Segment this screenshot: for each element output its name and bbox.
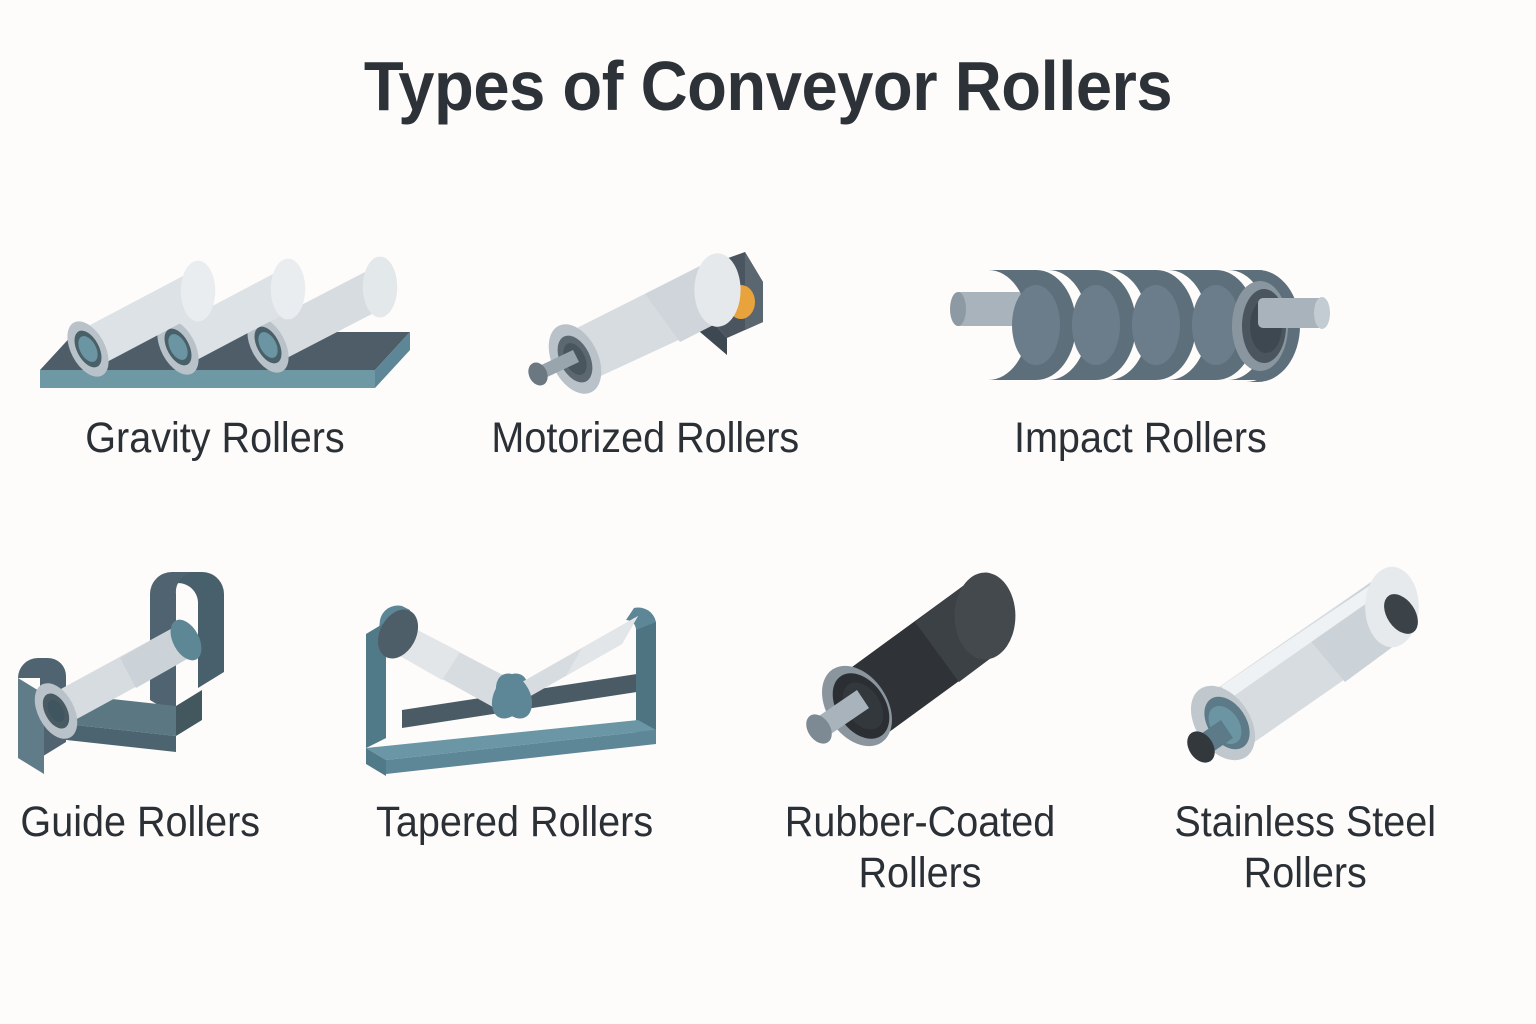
guide-roller-icon <box>0 560 290 775</box>
roller-label-tapered-rollers: Tapered Rollers <box>376 797 653 848</box>
roller-card-stainless-steel-rollers: Stainless Steel Rollers <box>1090 560 1520 898</box>
roller-label-guide-rollers: Guide Rollers <box>20 797 260 848</box>
roller-label-gravity-rollers: Gravity Rollers <box>85 413 344 464</box>
rubber-coated-roller-icon <box>795 560 1045 775</box>
gravity-rollers-icon <box>15 210 415 395</box>
roller-card-gravity-rollers: Gravity Rollers <box>0 210 430 464</box>
roller-card-impact-rollers: Impact Rollers <box>880 210 1400 464</box>
stainless-steel-roller-icon <box>1155 560 1455 775</box>
roller-label-stainless-steel-rollers: Stainless Steel Rollers <box>1174 797 1436 898</box>
roller-label-rubber-coated-rollers: Rubber-Coated Rollers <box>785 797 1055 898</box>
infographic-canvas: Types of Conveyor Rollers <box>0 0 1536 1024</box>
impact-roller-icon <box>940 210 1340 395</box>
roller-card-rubber-coated-rollers: Rubber-Coated Rollers <box>730 560 1110 898</box>
roller-card-motorized-rollers: Motorized Rollers <box>430 210 860 464</box>
roller-grid: Gravity Rollers <box>0 0 1536 1024</box>
roller-card-guide-rollers: Guide Rollers <box>0 560 300 848</box>
roller-label-motorized-rollers: Motorized Rollers <box>491 413 799 464</box>
roller-card-tapered-rollers: Tapered Rollers <box>300 560 730 848</box>
motorized-roller-icon <box>495 210 795 395</box>
tapered-rollers-icon <box>350 560 680 775</box>
roller-label-impact-rollers: Impact Rollers <box>1014 413 1267 464</box>
